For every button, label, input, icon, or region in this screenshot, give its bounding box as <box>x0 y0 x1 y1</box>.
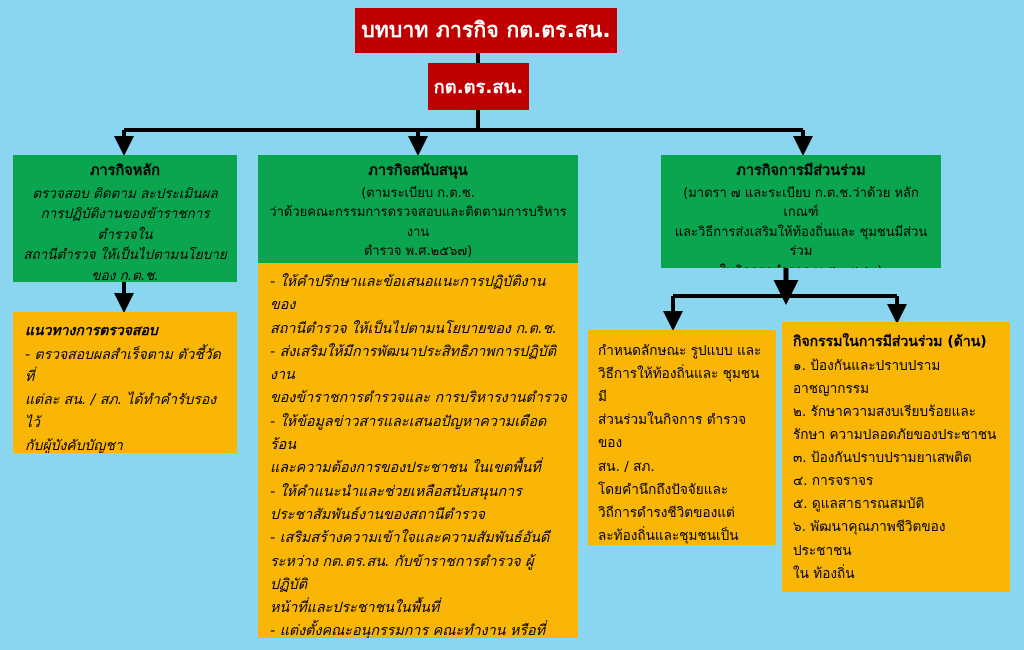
branch-subtitle-line: (มาตรา ๗ และระเบียบ ก.ต.ช.ว่าด้วย หลักเก… <box>669 184 933 223</box>
branch-title-support-mission: ภารกิจสนับสนุน <box>266 161 570 183</box>
diagram-canvas: บทบาท ภารกิจ กต.ตร.สน. กต.ตร.สน. ภารกิจห… <box>0 0 1024 650</box>
branch-subtitle-line: การปฏิบัติงานของข้าราชการตำรวจใน <box>21 204 229 245</box>
detail-line: ใน ท้องถิ่น <box>793 563 1002 586</box>
branch-subtitle-line: และวิธีการส่งเสริมให้ท้องถิ่นและ ชุมชนมี… <box>669 223 933 262</box>
branch-detail-support-mission: - ให้คำปรึกษาและข้อเสนอแนะการปฏิบัติงานข… <box>258 263 578 638</box>
detail-line: สน. / สภ. <box>598 456 768 479</box>
detail-line: ๑. ป้องกันและปราบปราม <box>793 355 1002 378</box>
detail-line: - ให้คำปรึกษาและข้อเสนอแนะการปฏิบัติงานข… <box>270 271 568 318</box>
detail-line: ส่วนร่วมในกิจการ ตำรวจของ <box>598 409 768 455</box>
detail-heading: แนวทางการตรวจสอบ <box>25 320 227 343</box>
branch-subtitle-line: ในกิจการตำรวจ พ.ศ.๒๕๔๙) <box>669 262 933 268</box>
detail-line: ระหว่าง กต.ตร.สน. กับข้าราชการตำรวจ ผู้ป… <box>270 551 568 598</box>
page-title: บทบาท ภารกิจ กต.ตร.สน. <box>355 8 617 53</box>
detail-line: - ส่งเสริมให้มีการพัฒนาประสิทธิภาพการปฏิ… <box>270 341 568 388</box>
branch-header-participation-mission: ภารกิจการมีส่วนร่วม (มาตรา ๗ และระเบียบ … <box>661 155 941 268</box>
branch-subtitle-line: (ตามระเบียบ ก.ต.ช. <box>266 184 570 204</box>
detail-line: ประชาสัมพันธ์งานของสถานีตำรวจ <box>270 504 568 527</box>
detail-line: วิถีการดำรงชีวิตของแต่ <box>598 502 768 525</box>
branch-subtitle-line: ว่าด้วยคณะกรรมการตรวจสอบและติดตามการบริห… <box>266 203 570 242</box>
detail-line: - เสริมสร้างความเข้าใจและความสัมพันธ์อัน… <box>270 527 568 550</box>
detail-line: วิธีการให้ท้องถิ่นและ ชุมชนมี <box>598 363 768 409</box>
branch-title-participation-mission: ภารกิจการมีส่วนร่วม <box>669 161 933 183</box>
branch-header-main-mission: ภารกิจหลัก ตรวจสอบ ติดตาม ละประเมินผล กา… <box>13 155 237 282</box>
branch-subtitle-line: สถานีตำรวจ ให้เป็นไปตามนโยบาย <box>21 245 229 266</box>
org-root-node: กต.ตร.สน. <box>428 63 529 110</box>
branch-subtitle-line: ตำรวจ พ.ศ.๒๕๖๗) <box>266 242 570 262</box>
detail-line: - แต่งตั้งคณะอนุกรรมการ คณะทำงาน หรือที่… <box>270 620 568 638</box>
branch-detail-participation-activities: กิจกรรมในการมีส่วนร่วม (ด้าน) ๑. ป้องกัน… <box>782 322 1010 592</box>
detail-line: โดยคำนึกถึงปัจจัยและ <box>598 479 768 502</box>
detail-line: ๕. ดูแลสาธารณสมบัติ <box>793 493 1002 516</box>
detail-line: - ตรวจสอบผลสำเร็จตาม ตัวชี้วัด ที่ <box>25 344 227 390</box>
branch-detail-main-mission: แนวทางการตรวจสอบ - ตรวจสอบผลสำเร็จตาม ตั… <box>13 312 237 453</box>
detail-line: รักษา ความปลอดภัยของประชาชน <box>793 424 1002 447</box>
detail-line: ๔. การจราจร <box>793 470 1002 493</box>
detail-line: และความต้องการของประชาชน ในเขตพื้นที่ <box>270 457 568 480</box>
detail-line: ของข้าราชการตำรวจและ การบริหารงานตำรวจ <box>270 387 568 410</box>
detail-line: ๖. พัฒนาคุณภาพชีวิตของประชาชน <box>793 516 1002 562</box>
branch-title-main-mission: ภารกิจหลัก <box>21 161 229 183</box>
detail-line: - ให้ข้อมูลข่าวสารและเสนอปัญหาความเดือดร… <box>270 411 568 458</box>
detail-heading: กิจกรรมในการมีส่วนร่วม (ด้าน) <box>793 331 1002 354</box>
detail-line: กำหนดลักษณะ รูปแบบ และ <box>598 340 768 363</box>
detail-line: - ให้คำแนะนำและช่วยเหลือสนับสนุนการ <box>270 481 568 504</box>
branch-subtitle-line: ของ ก.ต.ช. <box>21 266 229 282</box>
branch-header-support-mission: ภารกิจสนับสนุน (ตามระเบียบ ก.ต.ช. ว่าด้ว… <box>258 155 578 263</box>
detail-line: อาชญากรรม <box>793 378 1002 401</box>
detail-line: สถานีตำรวจ ให้เป็นไปตามนโยบายของ ก.ต.ช. <box>270 318 568 341</box>
detail-line: ๓. ป้องกันปราบปรามยาเสพติด <box>793 447 1002 470</box>
detail-line: แต่ละ สน. / สภ. ได้ทำคำรับรองไว้ <box>25 389 227 435</box>
detail-line: กับผู้บังคับบัญชา <box>25 435 227 453</box>
detail-line: ๒. รักษาความสงบเรียบร้อยและ <box>793 401 1002 424</box>
detail-line: หน้าที่และประชาชนในพื้นที่ <box>270 597 568 620</box>
branch-subtitle-line: ตรวจสอบ ติดตาม ละประเมินผล <box>21 184 229 205</box>
detail-line: ละท้องถิ่นและชุมชนเป็น <box>598 525 768 545</box>
branch-detail-participation-scope: กำหนดลักษณะ รูปแบบ และ วิธีการให้ท้องถิ่… <box>588 330 776 545</box>
